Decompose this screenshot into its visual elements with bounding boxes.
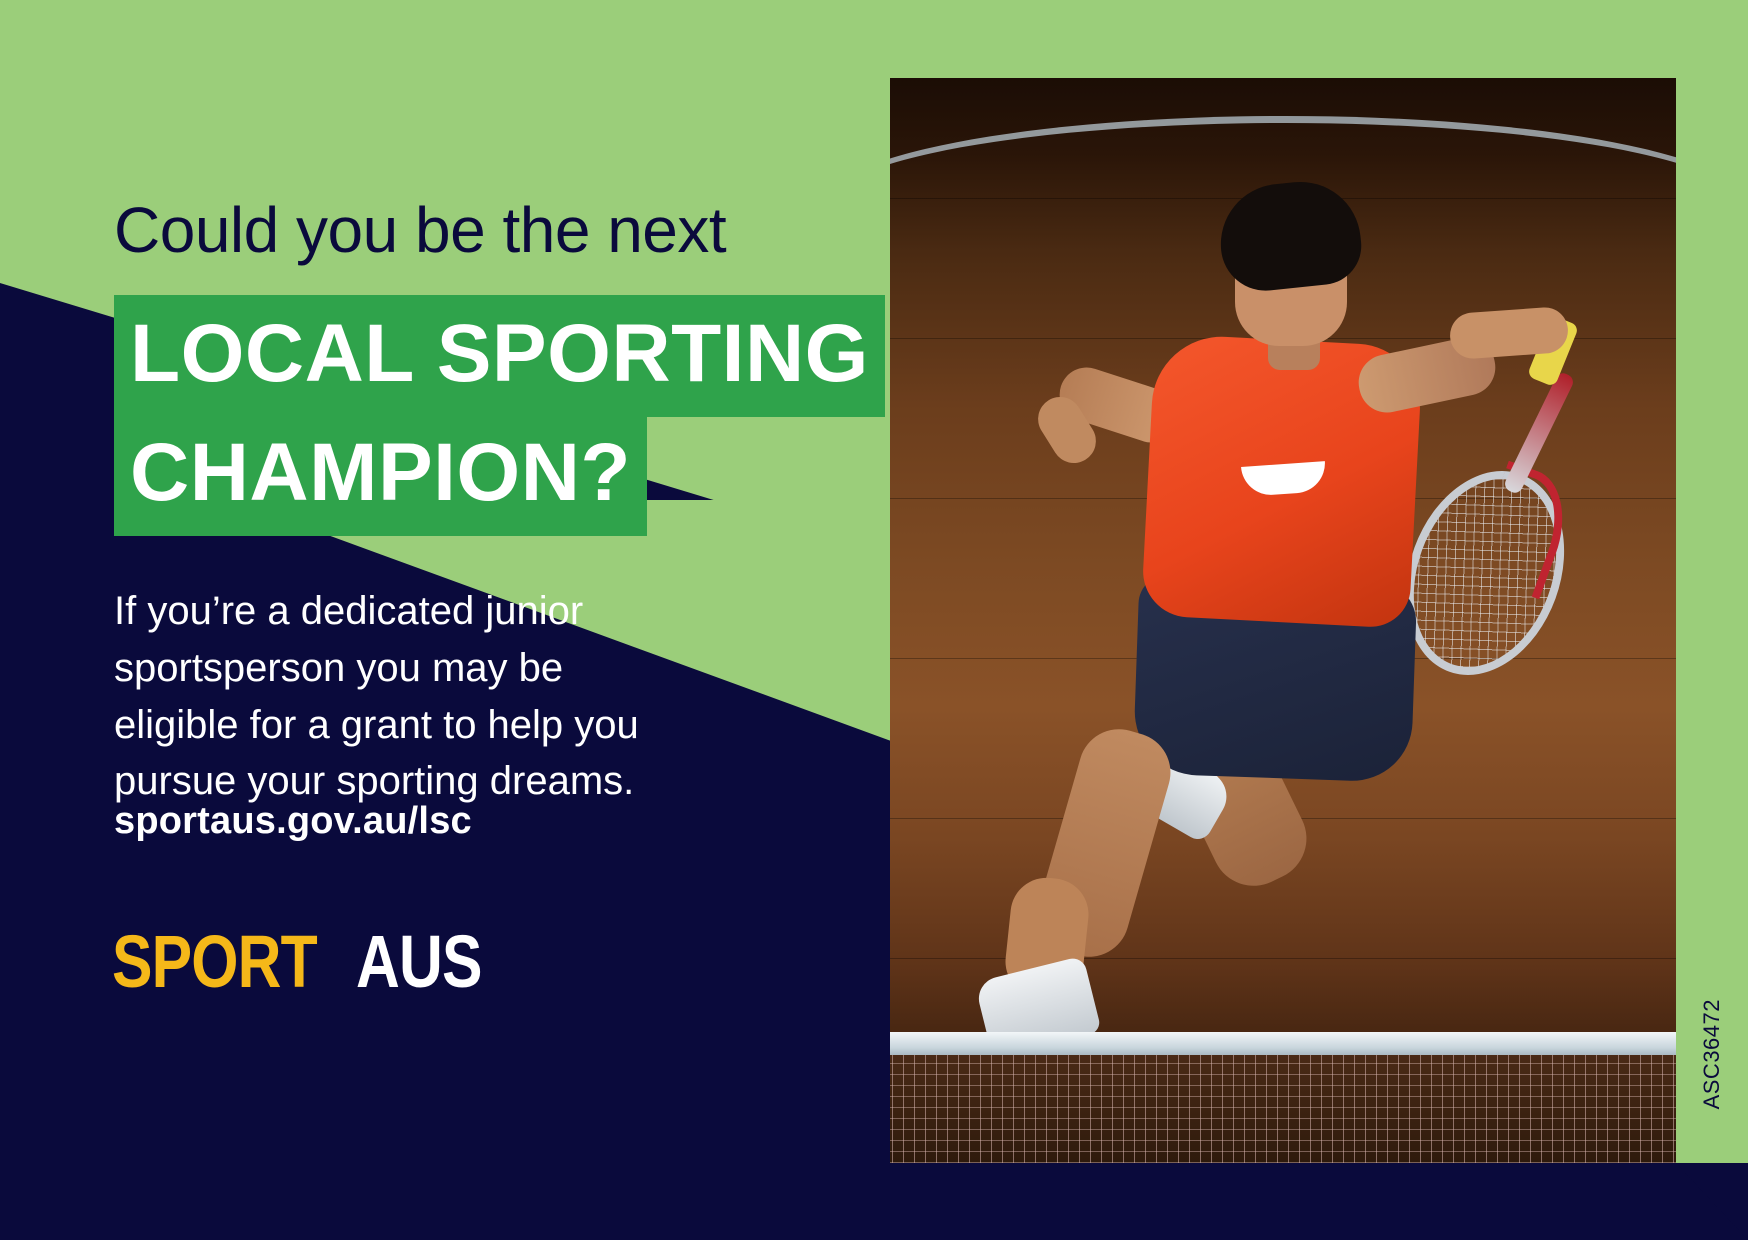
- logo-text-sport: SPORT: [112, 925, 317, 999]
- headline-line-1: LOCAL SPORTING: [114, 295, 885, 417]
- poster-canvas: Could you be the next LOCAL SPORTING CHA…: [0, 0, 1748, 1240]
- headline-kicker: Could you be the next: [114, 198, 726, 262]
- logo-text-aus: AUS: [356, 925, 482, 999]
- player-figure: [890, 78, 1676, 1163]
- headline-line-2: CHAMPION?: [114, 414, 647, 536]
- sport-australia-logo: SPORT AUS: [112, 925, 509, 999]
- background-navy-bottom-band: [740, 1163, 1748, 1240]
- reference-code-text: ASC36472: [1699, 999, 1725, 1109]
- body-copy: If you’re a dedicated junior sportsperso…: [114, 583, 674, 810]
- badminton-player-photo: [890, 78, 1676, 1163]
- website-url[interactable]: sportaus.gov.au/lsc: [114, 800, 472, 843]
- net-mesh: [890, 1055, 1676, 1163]
- reference-code: ASC36472: [1676, 0, 1748, 1155]
- player-hair: [1215, 176, 1365, 295]
- player-right-forearm: [1449, 306, 1570, 360]
